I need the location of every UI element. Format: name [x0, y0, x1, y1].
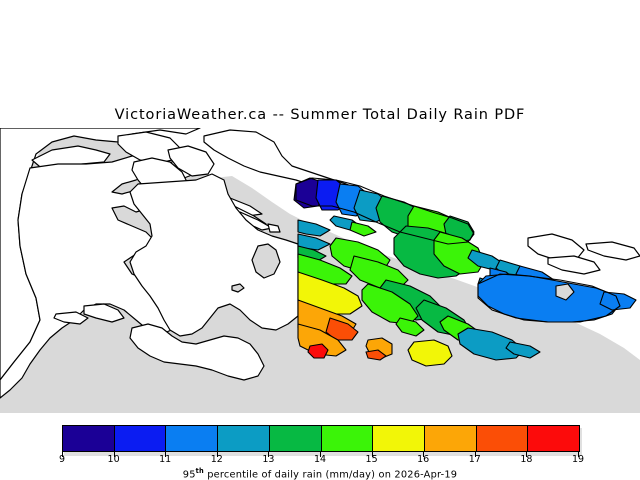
colorbar-band-17-18[interactable] [477, 426, 529, 451]
weather-map-page: VictoriaWeather.ca -- Summer Total Daily… [0, 0, 640, 480]
colorbar-label-12: 12 [211, 454, 223, 465]
colorbar-area: 910111213141516171819 95th percentile of… [0, 418, 640, 480]
caption-superscript: th [196, 467, 204, 475]
colorbar-caption: 95th percentile of daily rain (mm/day) o… [0, 467, 640, 480]
colorbar-label-11: 11 [159, 454, 171, 465]
colorbar-labels: 910111213141516171819 [0, 454, 640, 468]
colorbar-band-14-15[interactable] [322, 426, 374, 451]
map-canvas[interactable] [0, 128, 640, 413]
colorbar-label-19: 19 [572, 454, 584, 465]
colorbar-label-14: 14 [314, 454, 326, 465]
caption-rest: percentile of daily rain (mm/day) on 202… [204, 469, 457, 480]
colorbar-label-16: 16 [417, 454, 429, 465]
colorbar-band-16-17[interactable] [425, 426, 477, 451]
colorbar-band-15-16[interactable] [373, 426, 425, 451]
colorbar-label-17: 17 [469, 454, 481, 465]
map-figure [0, 128, 640, 413]
colorbar-label-13: 13 [262, 454, 274, 465]
colorbar-band-12-13[interactable] [218, 426, 270, 451]
colorbar[interactable] [62, 425, 580, 452]
colorbar-label-10: 10 [108, 454, 120, 465]
colorbar-band-18-19[interactable] [528, 426, 579, 451]
page-title: VictoriaWeather.ca -- Summer Total Daily… [0, 107, 640, 123]
colorbar-label-18: 18 [520, 454, 532, 465]
colorbar-band-11-12[interactable] [166, 426, 218, 451]
colorbar-band-13-14[interactable] [270, 426, 322, 451]
colorbar-band-9-10[interactable] [63, 426, 115, 451]
colorbar-label-15: 15 [366, 454, 378, 465]
colorbar-band-10-11[interactable] [115, 426, 167, 451]
caption-prefix: 95 [183, 469, 196, 480]
colorbar-label-9: 9 [59, 454, 65, 465]
